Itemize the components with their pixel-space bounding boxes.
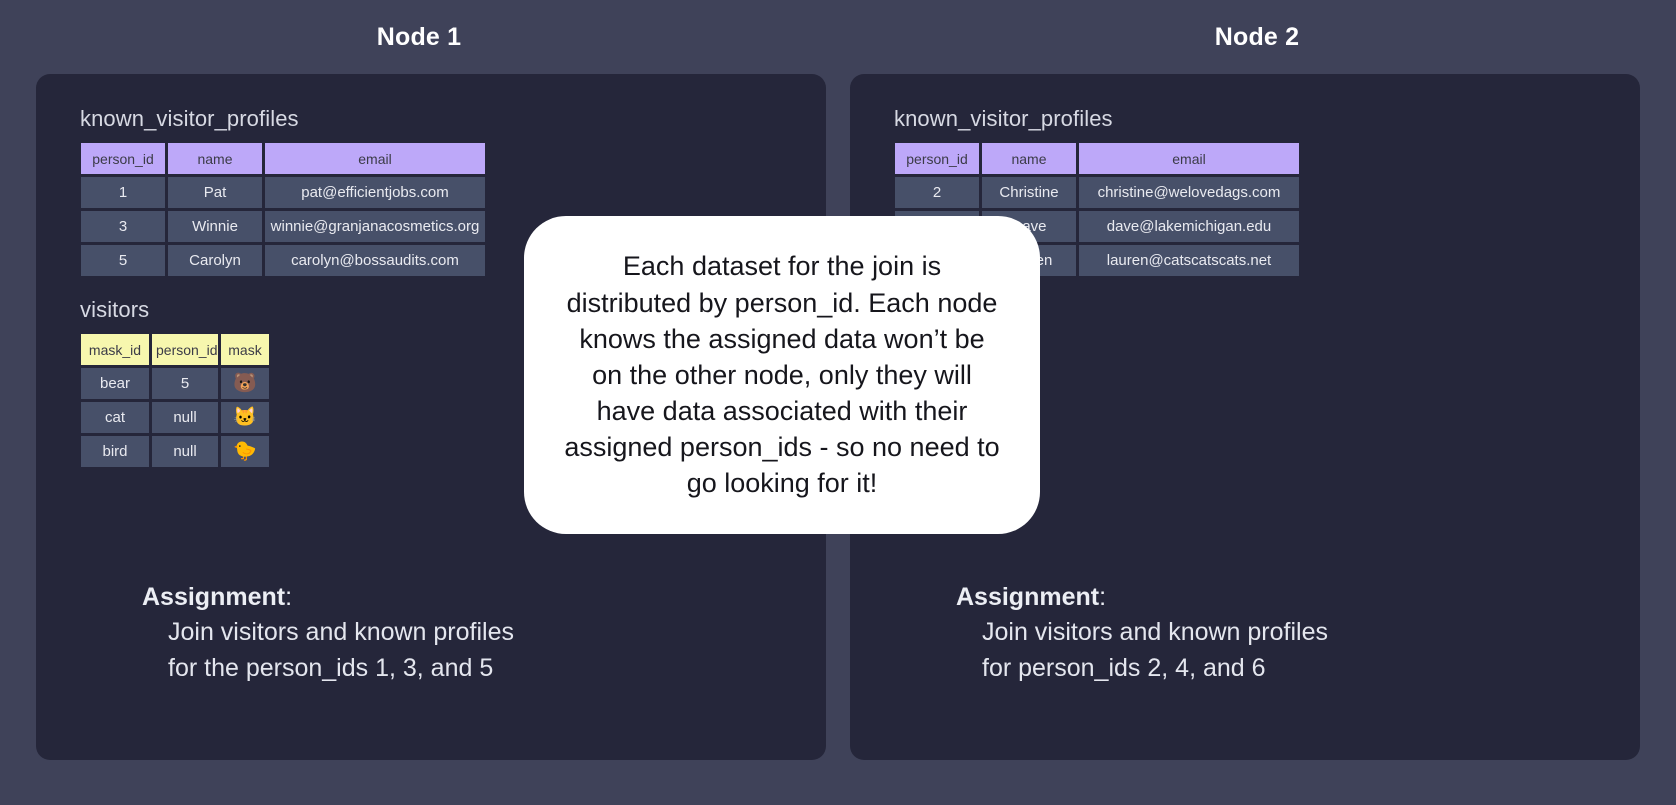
cell-person-id: null: [152, 402, 218, 433]
cell-person-id: 5: [152, 368, 218, 399]
node-titles-row: Node 1 Node 2: [0, 0, 1676, 74]
cell-name: Pat: [168, 177, 262, 208]
bear-mask-icon: 🐻: [221, 368, 269, 399]
assignment-line-2: for the person_ids 1, 3, and 5: [168, 650, 514, 686]
assignment-line-2: for person_ids 2, 4, and 6: [982, 650, 1328, 686]
cell-person-id: 1: [81, 177, 165, 208]
assignment-label: Assignment:: [956, 583, 1328, 612]
column-header-person-id: person_id: [152, 334, 218, 365]
column-header-name: name: [982, 143, 1076, 174]
node-1-title: Node 1: [377, 23, 462, 52]
cell-mask-id: cat: [81, 402, 149, 433]
cell-name: Carolyn: [168, 245, 262, 276]
column-header-email: email: [265, 143, 485, 174]
node-title-cell-2: Node 2: [838, 0, 1676, 74]
column-header-email: email: [1079, 143, 1299, 174]
node-1-visitors-table: mask_id person_id mask bear 5 🐻 cat null…: [78, 331, 272, 470]
table-row: 3 Winnie winnie@granjanacosmetics.org: [81, 211, 485, 242]
node-2-title: Node 2: [1215, 23, 1300, 52]
assignment-label-text: Assignment: [956, 583, 1099, 611]
table-row: 2 Christine christine@welovedags.com: [895, 177, 1299, 208]
callout-text: Each dataset for the join is distributed…: [564, 248, 1000, 501]
explanation-callout: Each dataset for the join is distributed…: [524, 216, 1040, 534]
cell-name: Winnie: [168, 211, 262, 242]
column-header-person-id: person_id: [895, 143, 979, 174]
table-row: cat null 🐱: [81, 402, 269, 433]
cell-person-id: 3: [81, 211, 165, 242]
cell-email: christine@welovedags.com: [1079, 177, 1299, 208]
cell-email: lauren@catscatscats.net: [1079, 245, 1299, 276]
table-row: 5 Carolyn carolyn@bossaudits.com: [81, 245, 485, 276]
diagram-canvas: Node 1 Node 2 known_visitor_profiles per…: [0, 0, 1676, 805]
cell-mask-id: bear: [81, 368, 149, 399]
cell-person-id: null: [152, 436, 218, 467]
node-1-assignment: Assignment: Join visitors and known prof…: [142, 583, 514, 687]
node-2-assignment: Assignment: Join visitors and known prof…: [956, 583, 1328, 687]
cell-email: carolyn@bossaudits.com: [265, 245, 485, 276]
node-1-profiles-table: person_id name email 1 Pat pat@efficient…: [78, 140, 488, 279]
table-row: 1 Pat pat@efficientjobs.com: [81, 177, 485, 208]
table-header-row: person_id name email: [895, 143, 1299, 174]
column-header-mask: mask: [221, 334, 269, 365]
cell-email: winnie@granjanacosmetics.org: [265, 211, 485, 242]
bird-mask-icon: 🐤: [221, 436, 269, 467]
node-1-profiles-table-title: known_visitor_profiles: [80, 106, 826, 132]
assignment-line-1: Join visitors and known profiles: [168, 614, 514, 650]
cell-person-id: 5: [81, 245, 165, 276]
column-header-name: name: [168, 143, 262, 174]
assignment-colon: :: [1099, 583, 1106, 611]
assignment-colon: :: [285, 583, 292, 611]
assignment-label-text: Assignment: [142, 583, 285, 611]
assignment-label: Assignment:: [142, 583, 514, 612]
node-title-cell-1: Node 1: [0, 0, 838, 74]
table-row: bird null 🐤: [81, 436, 269, 467]
table-row: bear 5 🐻: [81, 368, 269, 399]
column-header-mask-id: mask_id: [81, 334, 149, 365]
cell-person-id: 2: [895, 177, 979, 208]
table-header-row: person_id name email: [81, 143, 485, 174]
cell-email: dave@lakemichigan.edu: [1079, 211, 1299, 242]
cell-mask-id: bird: [81, 436, 149, 467]
column-header-person-id: person_id: [81, 143, 165, 174]
table-header-row: mask_id person_id mask: [81, 334, 269, 365]
assignment-line-1: Join visitors and known profiles: [982, 614, 1328, 650]
node-2-profiles-table-title: known_visitor_profiles: [894, 106, 1640, 132]
cell-email: pat@efficientjobs.com: [265, 177, 485, 208]
cell-name: Christine: [982, 177, 1076, 208]
cat-mask-icon: 🐱: [221, 402, 269, 433]
